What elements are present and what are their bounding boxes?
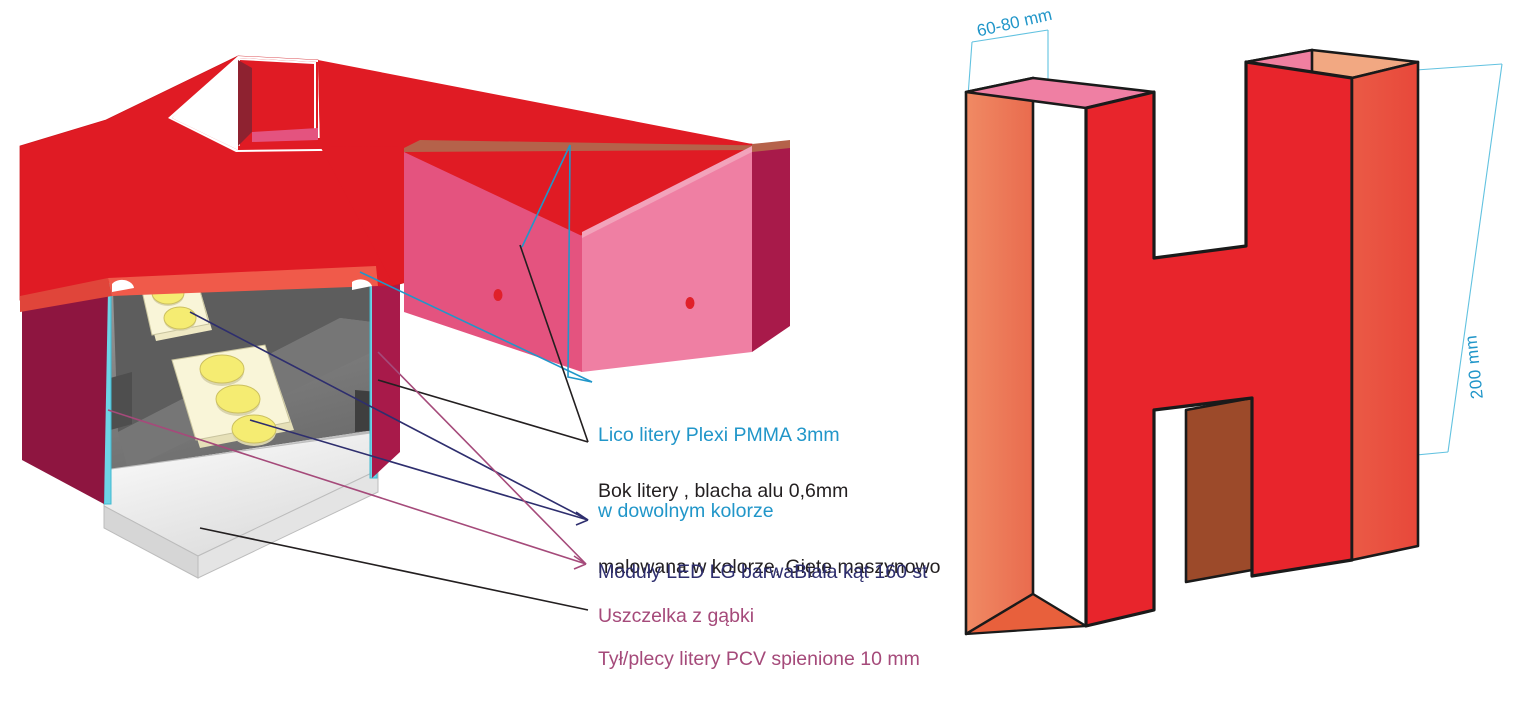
- h-lower-notch-inner: [1186, 398, 1252, 582]
- rivet-dot: [686, 297, 695, 309]
- leader-line-bok-b: [378, 380, 588, 442]
- leader-line-back-panel: [200, 528, 588, 610]
- led-dot: [232, 415, 276, 443]
- dim-height-top-line: [1416, 64, 1502, 70]
- callout-bok-line1: Bok litery , blacha alu 0,6mm: [598, 479, 940, 504]
- h-right-stem-outer-side: [1352, 62, 1418, 560]
- leader-line-gasket-b: [378, 352, 586, 564]
- led-dot: [164, 307, 196, 329]
- h-left-stem-side: [966, 78, 1033, 634]
- rivet-dot: [494, 289, 503, 301]
- led-dot: [216, 385, 260, 413]
- letter-h-group: [966, 30, 1502, 634]
- dim-depth-left-tick: [968, 42, 972, 96]
- callout-tyl-line1: Tył/plecy litery PCV spienione 10 mm: [598, 647, 920, 672]
- notch-inner-wall: [238, 60, 252, 146]
- diagram-canvas: Lico litery Plexi PMMA 3mm w dowolnym ko…: [0, 0, 1523, 680]
- letter-side-right-inner: [372, 270, 400, 478]
- led-dot: [200, 355, 244, 383]
- front-block-right-side: [752, 146, 790, 352]
- callout-label-tyl: Tył/plecy litery PCV spienione 10 mm: [598, 596, 920, 723]
